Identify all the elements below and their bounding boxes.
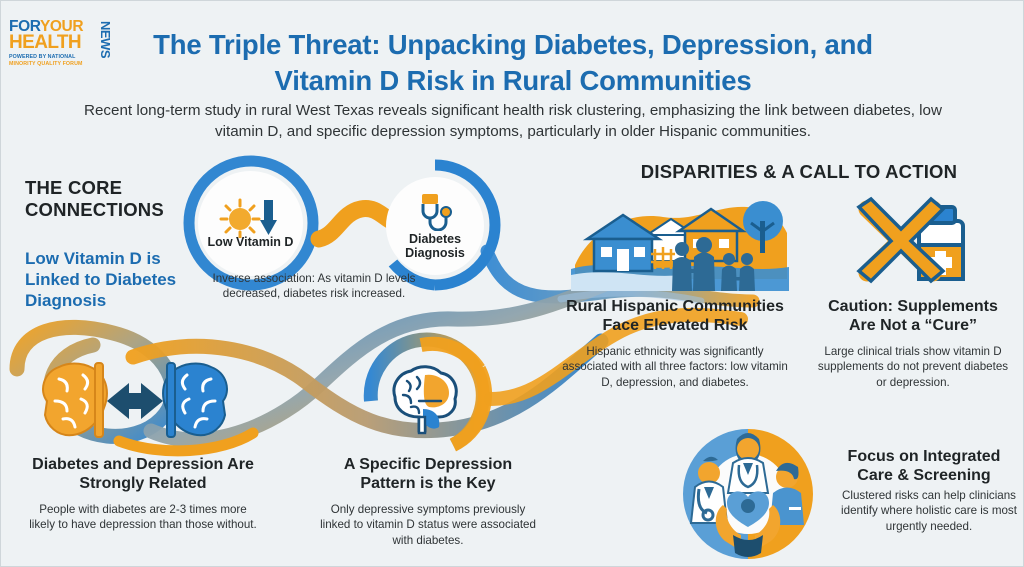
block-body-depression-pattern: Only depressive symptoms previously link… <box>317 502 539 548</box>
block-body-supplements-caution: Large clinical trials show vitamin D sup… <box>813 344 1013 390</box>
logo-wordmark: FORYOUR HEALTH POWERED BY NATIONAL MINOR… <box>9 19 97 67</box>
block-body-integrated-care: Clustered risks can help clinicians iden… <box>841 488 1017 534</box>
brain-in-circle-icon <box>383 361 463 435</box>
core-connections-heading: THE CORE CONNECTIONS <box>25 177 205 221</box>
core-connections-subheading: Low Vitamin D is Linked to Diabetes Diag… <box>25 248 210 311</box>
page-title: The Triple Threat: Unpacking Diabetes, D… <box>113 27 913 99</box>
sun-down-arrow-icon <box>218 198 284 238</box>
node-diabetes-diagnosis-label: Diabetes Diagnosis <box>386 232 484 260</box>
logo-tagline-line-1: POWERED BY NATIONAL <box>9 54 97 61</box>
logo-tagline-line-2: MINORITY QUALITY FORUM <box>9 61 97 68</box>
block-body-rural-hispanic: Hispanic ethnicity was significantly ass… <box>561 344 789 390</box>
two-brains-double-arrow-icon <box>29 353 241 449</box>
block-title-depression-pattern: A Specific Depression Pattern is the Key <box>317 455 539 493</box>
healthcare-team-heart-hands-icon <box>677 423 819 563</box>
node-diabetes-diagnosis[interactable]: Diabetes Diagnosis <box>386 177 484 275</box>
x-over-supplement-bottle-icon <box>849 193 993 289</box>
logo-text-health: HEALTH <box>9 34 97 52</box>
block-title-rural-hispanic: Rural Hispanic Communities Face Elevated… <box>557 297 793 335</box>
stethoscope-icon <box>410 193 460 231</box>
logo-text-news: NEWS <box>99 21 112 58</box>
block-title-integrated-care: Focus on Integrated Care & Screening <box>829 447 1019 485</box>
page-subtitle: Recent long-term study in rural West Tex… <box>63 100 963 142</box>
inverse-association-caption: Inverse association: As vitamin D levels… <box>194 271 434 301</box>
for-your-health-news-logo: FORYOUR HEALTH POWERED BY NATIONAL MINOR… <box>9 19 117 69</box>
block-title-supplements-caution: Caution: Supplements Are Not a “Cure” <box>813 297 1013 335</box>
block-title-diabetes-depression: Diabetes and Depression Are Strongly Rel… <box>23 455 263 493</box>
disparities-heading: DISPARITIES & A CALL TO ACTION <box>629 161 969 183</box>
block-body-diabetes-depression: People with diabetes are 2-3 times more … <box>25 502 261 533</box>
infographic-canvas: FORYOUR HEALTH POWERED BY NATIONAL MINOR… <box>1 1 1023 566</box>
node-low-vitamin-d[interactable]: Low Vitamin D <box>198 171 303 276</box>
rural-village-family-icon <box>567 191 793 295</box>
node-low-vitamin-d-label: Low Vitamin D <box>208 235 294 249</box>
